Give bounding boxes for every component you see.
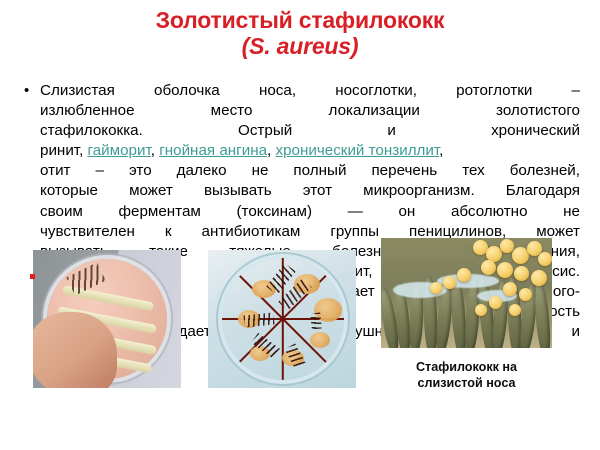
handwritten-label xyxy=(310,313,322,330)
photo-agar-streak-plate xyxy=(33,250,181,388)
staph-coccus xyxy=(503,282,517,296)
slide-title: Золотистый стафилококк (S. aureus) xyxy=(0,8,600,60)
staph-coccus xyxy=(481,260,496,275)
bullet-marker: • xyxy=(24,81,40,101)
staph-coccus xyxy=(509,304,521,316)
caption-line-2: слизистой носа xyxy=(381,376,552,392)
body-text-rinit: ринит, xyxy=(40,142,88,159)
photo-blood-agar-plate xyxy=(208,250,356,388)
slide: Золотистый стафилококк (S. aureus) • Сли… xyxy=(0,0,600,450)
body-line-7: своим ферментам (токсинам) — он абсолютн… xyxy=(40,202,580,222)
link-gaymorit[interactable]: гайморит xyxy=(88,142,151,159)
body-line-4: ринит, гайморит, гнойная ангина, хрониче… xyxy=(40,141,580,161)
colony-growth xyxy=(310,332,330,348)
red-marker-dot xyxy=(30,274,35,279)
staph-coccus xyxy=(531,270,547,286)
staph-coccus xyxy=(489,296,502,309)
staph-coccus xyxy=(430,282,442,294)
hand-holding-dish xyxy=(33,312,117,388)
body-sep-1: , xyxy=(151,142,159,159)
staph-coccus xyxy=(519,288,532,301)
body-sep-3: , xyxy=(439,142,443,159)
photo-sem-staph-nasal-mucosa xyxy=(381,238,552,348)
staph-coccus xyxy=(475,304,487,316)
staph-coccus xyxy=(497,262,513,278)
link-hronicheskiy-tonzillit[interactable]: хронический тонзиллит xyxy=(275,142,439,159)
staph-coccus xyxy=(457,268,471,282)
title-line-latin-name: (S. aureus) xyxy=(0,34,600,60)
body-line-2: излюбленное место локализации золотистог… xyxy=(40,101,580,121)
staph-coccus xyxy=(443,276,456,289)
caption-line-1: Стафилококк на xyxy=(381,360,552,376)
body-line-5: отит – это далеко не полный перечень тех… xyxy=(40,161,580,181)
staph-coccus xyxy=(514,266,529,281)
body-line-6: которые может вызывать этот микроорганиз… xyxy=(40,181,580,201)
staph-coccus xyxy=(538,252,552,266)
body-line-3: стафилококка. Острый и хронический xyxy=(40,121,580,141)
photo-caption: Стафилококк на слизистой носа xyxy=(381,360,552,391)
link-gnoynaya-angina[interactable]: гнойная ангина xyxy=(159,142,267,159)
body-line-1: Слизистая оболочка носа, носоглотки, рот… xyxy=(40,81,580,101)
title-line-primary: Золотистый стафилококк xyxy=(0,8,600,34)
